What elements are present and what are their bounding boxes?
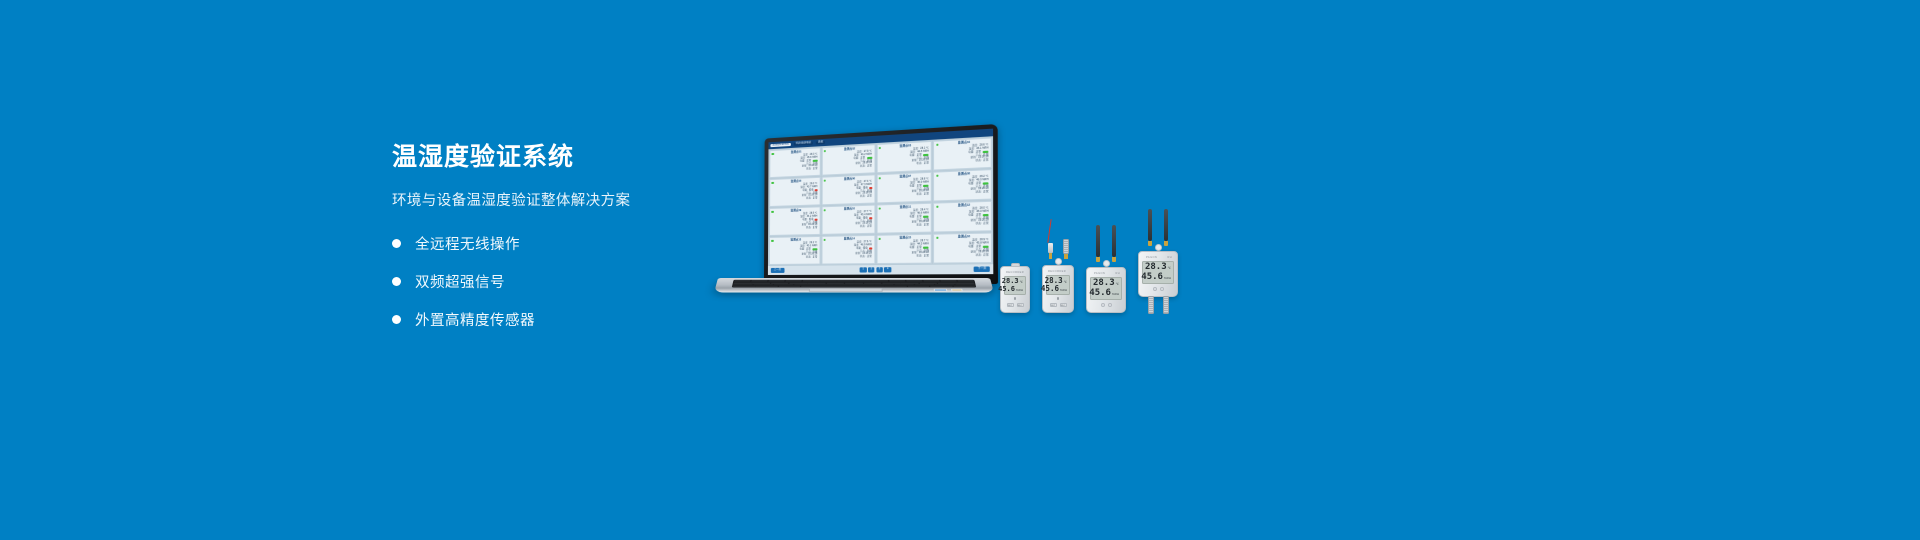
keyboard-key[interactable] (733, 286, 755, 287)
monitor-card[interactable]: 监测点15温度:28.7 ℃湿度:44.5 %RH电量:正常节点:在线更新:10… (876, 234, 932, 264)
status-dot-icon (878, 238, 881, 241)
card-row: 状态:正常 (827, 196, 871, 201)
status-dot-icon (824, 150, 826, 153)
device-wireless-transmitter-probe: PAGON RH 28.3 ℃ 45.6 %RH (1138, 209, 1178, 314)
monitor-card[interactable]: 监测点07温度:28.8 ℃湿度:45.9 %RH电量:正常节点:在线更新:10… (876, 172, 932, 204)
card-row-key: 状态: (976, 192, 982, 195)
card-row-value: 正常 (813, 227, 818, 230)
card-row-value: 正常 (867, 226, 872, 229)
laptop-screen: 温湿度验证系统 列表/曲线/报表 数据 监测点01温度:28.3 ℃湿度:45.… (768, 129, 993, 275)
mount-hole-icon (1055, 258, 1062, 265)
card-row: 状态:正常 (775, 227, 817, 231)
humidity-unit: %RH (1016, 289, 1023, 292)
feature-label: 全远程无线操作 (415, 233, 520, 254)
laptop-palmrest (731, 288, 978, 292)
bullet-dot-icon (392, 239, 401, 248)
laptop-lid: 温湿度验证系统 列表/曲线/报表 数据 监测点01温度:28.3 ℃湿度:45.… (764, 124, 998, 284)
list-item: 外置高精度传感器 (392, 306, 732, 332)
monitor-card[interactable]: 监测点08温度:28.2 ℃湿度:46.0 %RH电量:正常节点:在线更新:10… (933, 169, 992, 202)
status-dot-icon (878, 177, 881, 180)
status-led-icon (1057, 297, 1060, 300)
card-row-value: 正常 (983, 223, 988, 226)
keyboard-key[interactable] (756, 286, 778, 287)
card-row-key: 状态: (916, 194, 922, 197)
device-lcd: 28.3 ℃ 45.6 %RH (1004, 276, 1026, 296)
copy-block: 温湿度验证系统 环境与设备温湿度验证整体解决方案 全远程无线操作 双频超强信号 … (392, 142, 732, 332)
monitor-card[interactable]: 监测点04温度:28.6 ℃湿度:45.1 %RH电量:正常节点:在线更新:10… (933, 137, 992, 170)
humidity-value: 45.6 (998, 286, 1015, 293)
dual-antenna-icon (1148, 209, 1168, 246)
device-lcd: 28.3 ℃ 45.6 %RH (1142, 261, 1174, 285)
device-probe-logger: RECORDER 28.3 ℃ 45.6 %RH SET REC (1042, 219, 1074, 313)
device-buttons (1090, 303, 1122, 307)
set-button[interactable]: SET (1007, 303, 1014, 307)
prev-page-button[interactable]: 上一页 (771, 268, 784, 274)
card-row-value: 正常 (924, 163, 929, 166)
temperature-filter-icon (1163, 296, 1169, 314)
ok-button[interactable] (1108, 303, 1112, 307)
device-small-logger: RECORDER 28.3 ℃ 45.6 %RH SET REC (1000, 263, 1030, 313)
card-row-value: 正常 (813, 168, 818, 171)
laptop-base (714, 278, 994, 293)
card-row-value: 正常 (813, 257, 818, 260)
card-row-key: 状态: (806, 257, 811, 260)
product-banner: 温湿度验证系统 环境与设备温湿度验证整体解决方案 全远程无线操作 双频超强信号 … (0, 0, 1920, 540)
card-row-key: 状态: (860, 256, 865, 259)
device-brand: RECORDER (1006, 271, 1024, 274)
card-row-key: 状态: (916, 255, 922, 258)
monitor-card[interactable]: 监测点05温度:29.0 ℃湿度:43.7 %RH电量:低电节点:在线更新:10… (769, 177, 820, 207)
monitor-card[interactable]: 监测点11温度:28.4 ℃湿度:46.6 %RH电量:正常节点:在线更新:10… (876, 203, 932, 234)
monitor-card[interactable]: 监测点09温度:28.5 ℃湿度:44.2 %RH电量:低电节点:在线更新:10… (769, 206, 820, 236)
page-button[interactable]: 2 (868, 267, 875, 273)
feature-label: 外置高精度传感器 (415, 309, 535, 330)
keyboard-key[interactable] (885, 286, 907, 287)
card-row-key: 状态: (916, 163, 922, 166)
card-row: 状态:正常 (827, 226, 871, 230)
card-row: 状态:正常 (775, 168, 817, 173)
device-brand-left: PAGON (1094, 272, 1105, 275)
temperature-unit: ℃ (1116, 283, 1119, 286)
list-item: 双频超强信号 (392, 268, 732, 294)
card-row-value: 正常 (983, 160, 988, 163)
humidity-unit: %RH (1164, 277, 1171, 280)
humidity-filter-icon (1148, 296, 1154, 314)
device-brand: RECORDER (1048, 270, 1066, 273)
status-dot-icon (936, 206, 939, 209)
device-buttons: SET REC (1004, 303, 1026, 307)
device-lcd: 28.3 ℃ 45.6 %RH (1046, 275, 1070, 296)
card-row-value: 正常 (924, 255, 929, 258)
rec-button[interactable]: REC (1017, 303, 1024, 307)
keyboard-key[interactable] (930, 286, 952, 287)
status-dot-icon (772, 182, 774, 184)
device-brand-row: PAGON RH (1144, 256, 1174, 259)
device-brand-right: RH (1115, 272, 1120, 275)
card-row-key: 状态: (806, 198, 811, 201)
device-brand-right: RH (1167, 256, 1172, 259)
temperature-unit: ℃ (1064, 281, 1067, 284)
temperature-unit: ℃ (1020, 281, 1023, 284)
status-dot-icon (824, 209, 826, 212)
monitor-card[interactable]: 监测点12温度:28.0 ℃湿度:45.0 %RH电量:正常节点:在线更新:10… (933, 201, 992, 233)
laptop-illustration: 温湿度验证系统 列表/曲线/报表 数据 监测点01温度:28.3 ℃湿度:45.… (718, 138, 990, 300)
monitor-card[interactable]: 监测点16温度:28.9 ℃湿度:45.8 %RH电量:正常节点:在线更新:10… (933, 232, 992, 263)
card-row-key: 状态: (806, 168, 811, 171)
card-row-value: 正常 (867, 196, 872, 199)
app-footer: 上一页 1234 下一页 (768, 264, 993, 275)
set-button[interactable]: SET (1050, 303, 1057, 307)
humidity-unit: %RH (1112, 293, 1119, 296)
ok-button[interactable] (1160, 287, 1164, 291)
page-subtitle: 环境与设备温湿度验证整体解决方案 (392, 189, 732, 210)
card-row: 状态:正常 (827, 256, 871, 259)
card-row: 状态:正常 (940, 191, 989, 196)
humidity-value: 45.6 (1089, 289, 1111, 298)
page-button[interactable]: 1 (860, 267, 866, 273)
monitor-card[interactable]: 监测点13温度:29.2 ℃湿度:43.1 %RH电量:正常节点:在线更新:10… (769, 236, 820, 265)
monitor-card[interactable]: 监测点03温度:28.1 ℃湿度:44.8 %RH电量:正常节点:在线更新:10… (876, 141, 932, 173)
status-dot-icon (771, 211, 773, 213)
status-dot-icon (936, 237, 939, 240)
card-row: 状态:正常 (882, 255, 928, 259)
card-row-key: 状态: (916, 225, 922, 228)
keyboard-row (733, 286, 976, 287)
device-lineup: RECORDER 28.3 ℃ 45.6 %RH SET REC (1000, 178, 1220, 313)
card-row-key: 状态: (860, 166, 865, 169)
status-dot-icon (936, 144, 939, 147)
monitor-card[interactable]: 监测点02温度:27.9 ℃湿度:46.2 %RH电量:正常节点:在线更新:10… (821, 144, 875, 176)
card-row-key: 状态: (860, 196, 865, 199)
card-row-value: 正常 (983, 191, 988, 194)
status-dot-icon (936, 175, 939, 178)
monitor-card-grid: 监测点01温度:28.3 ℃湿度:45.6 %RH电量:正常节点:在线更新:10… (768, 136, 993, 266)
laptop-keyboard[interactable] (732, 279, 976, 287)
set-button[interactable] (1101, 303, 1105, 307)
monitor-card[interactable]: 监测点01温度:28.3 ℃湿度:45.6 %RH电量:正常节点:在线更新:10… (769, 147, 820, 178)
set-button[interactable] (1153, 287, 1157, 291)
page-title: 温湿度验证系统 (392, 142, 732, 172)
card-row-value: 正常 (983, 255, 988, 258)
status-dot-icon (879, 147, 882, 150)
monitor-card[interactable]: 监测点10温度:27.7 ℃湿度:45.4 %RH电量:低电节点:在线更新:10… (821, 205, 875, 235)
device-wireless-transmitter: PAGON RH 28.3 ℃ 45.6 %RH (1086, 225, 1126, 314)
feature-label: 双频超强信号 (415, 271, 505, 292)
status-dot-icon (771, 240, 773, 242)
external-sensors (1048, 219, 1069, 259)
keyboard-key[interactable] (907, 286, 929, 287)
temperature-value: 28.3 (1145, 263, 1167, 272)
bullet-dot-icon (392, 315, 401, 324)
status-dot-icon (824, 239, 826, 241)
card-row-value: 正常 (924, 193, 929, 196)
card-row: 状态:正常 (882, 224, 928, 228)
tab-monitor[interactable]: 温湿度验证系统 (770, 143, 790, 148)
card-row: 状态:正常 (775, 257, 817, 260)
device-buttons: SET REC (1046, 303, 1070, 307)
temperature-unit: ℃ (1168, 267, 1171, 270)
mount-hole-icon (1103, 260, 1110, 267)
monitor-card[interactable]: 监测点06温度:27.4 ℃湿度:47.3 %RH电量:低电节点:在线更新:10… (821, 174, 875, 205)
mount-hole-icon (1155, 244, 1162, 251)
feature-list: 全远程无线操作 双频超强信号 外置高精度传感器 (392, 230, 732, 332)
page-button[interactable]: 4 (884, 267, 891, 273)
card-row-key: 状态: (806, 227, 811, 230)
card-row-value: 正常 (867, 165, 872, 168)
pagination: 1234 (860, 267, 891, 273)
card-row-value: 正常 (924, 224, 929, 227)
list-item: 全远程无线操作 (392, 230, 732, 256)
temperature-probe-icon (1048, 219, 1053, 259)
card-row-key: 状态: (976, 160, 982, 163)
status-led-icon (1014, 297, 1017, 300)
dual-antenna-icon (1096, 225, 1116, 262)
card-row: 状态:正常 (882, 193, 928, 198)
card-row-key: 状态: (860, 226, 865, 229)
card-row-value: 正常 (867, 256, 872, 259)
card-row-value: 正常 (813, 198, 818, 201)
next-page-button[interactable]: 下一页 (974, 266, 990, 272)
bullet-dot-icon (392, 277, 401, 286)
humidity-unit: %RH (1060, 289, 1067, 292)
device-brand-row: PAGON RH (1092, 272, 1122, 275)
device-body: RECORDER 28.3 ℃ 45.6 %RH SET REC (1000, 266, 1030, 313)
card-row: 状态:正常 (775, 198, 817, 202)
card-row: 状态:正常 (940, 255, 989, 259)
device-body: RECORDER 28.3 ℃ 45.6 %RH SET REC (1042, 265, 1074, 313)
fingerprint-sticker (951, 289, 963, 291)
card-row-key: 状态: (976, 255, 982, 258)
monitor-card[interactable]: 监测点14温度:27.6 ℃湿度:46.9 %RH电量:低电节点:在线更新:10… (821, 235, 875, 265)
device-buttons (1142, 287, 1174, 291)
device-lcd: 28.3 ℃ 45.6 %RH (1090, 277, 1122, 301)
keyboard-key[interactable] (778, 286, 800, 287)
status-dot-icon (824, 180, 826, 183)
spec-sticker (934, 289, 948, 291)
bottom-external-sensors (1148, 296, 1169, 314)
page-button[interactable]: 3 (876, 267, 883, 273)
device-brand-left: PAGON (1146, 256, 1157, 259)
temperature-value: 28.3 (1093, 279, 1115, 288)
device-body: PAGON RH 28.3 ℃ 45.6 %RH (1086, 267, 1126, 314)
keyboard-key[interactable] (953, 286, 975, 287)
tab-reports[interactable]: 列表/曲线/报表 (794, 141, 814, 146)
humidity-value: 45.6 (1141, 273, 1163, 282)
card-row: 状态:正常 (940, 223, 989, 227)
keyboard-key[interactable] (801, 286, 884, 287)
card-row-key: 状态: (976, 223, 982, 226)
status-dot-icon (878, 207, 881, 210)
rec-button[interactable]: REC (1060, 303, 1067, 307)
status-dot-icon (772, 153, 774, 156)
humidity-value: 45.6 (1041, 285, 1059, 293)
humidity-filter-icon (1063, 239, 1069, 259)
device-body: PAGON RH 28.3 ℃ 45.6 %RH (1138, 251, 1178, 298)
tab-data[interactable]: 数据 (816, 141, 825, 145)
